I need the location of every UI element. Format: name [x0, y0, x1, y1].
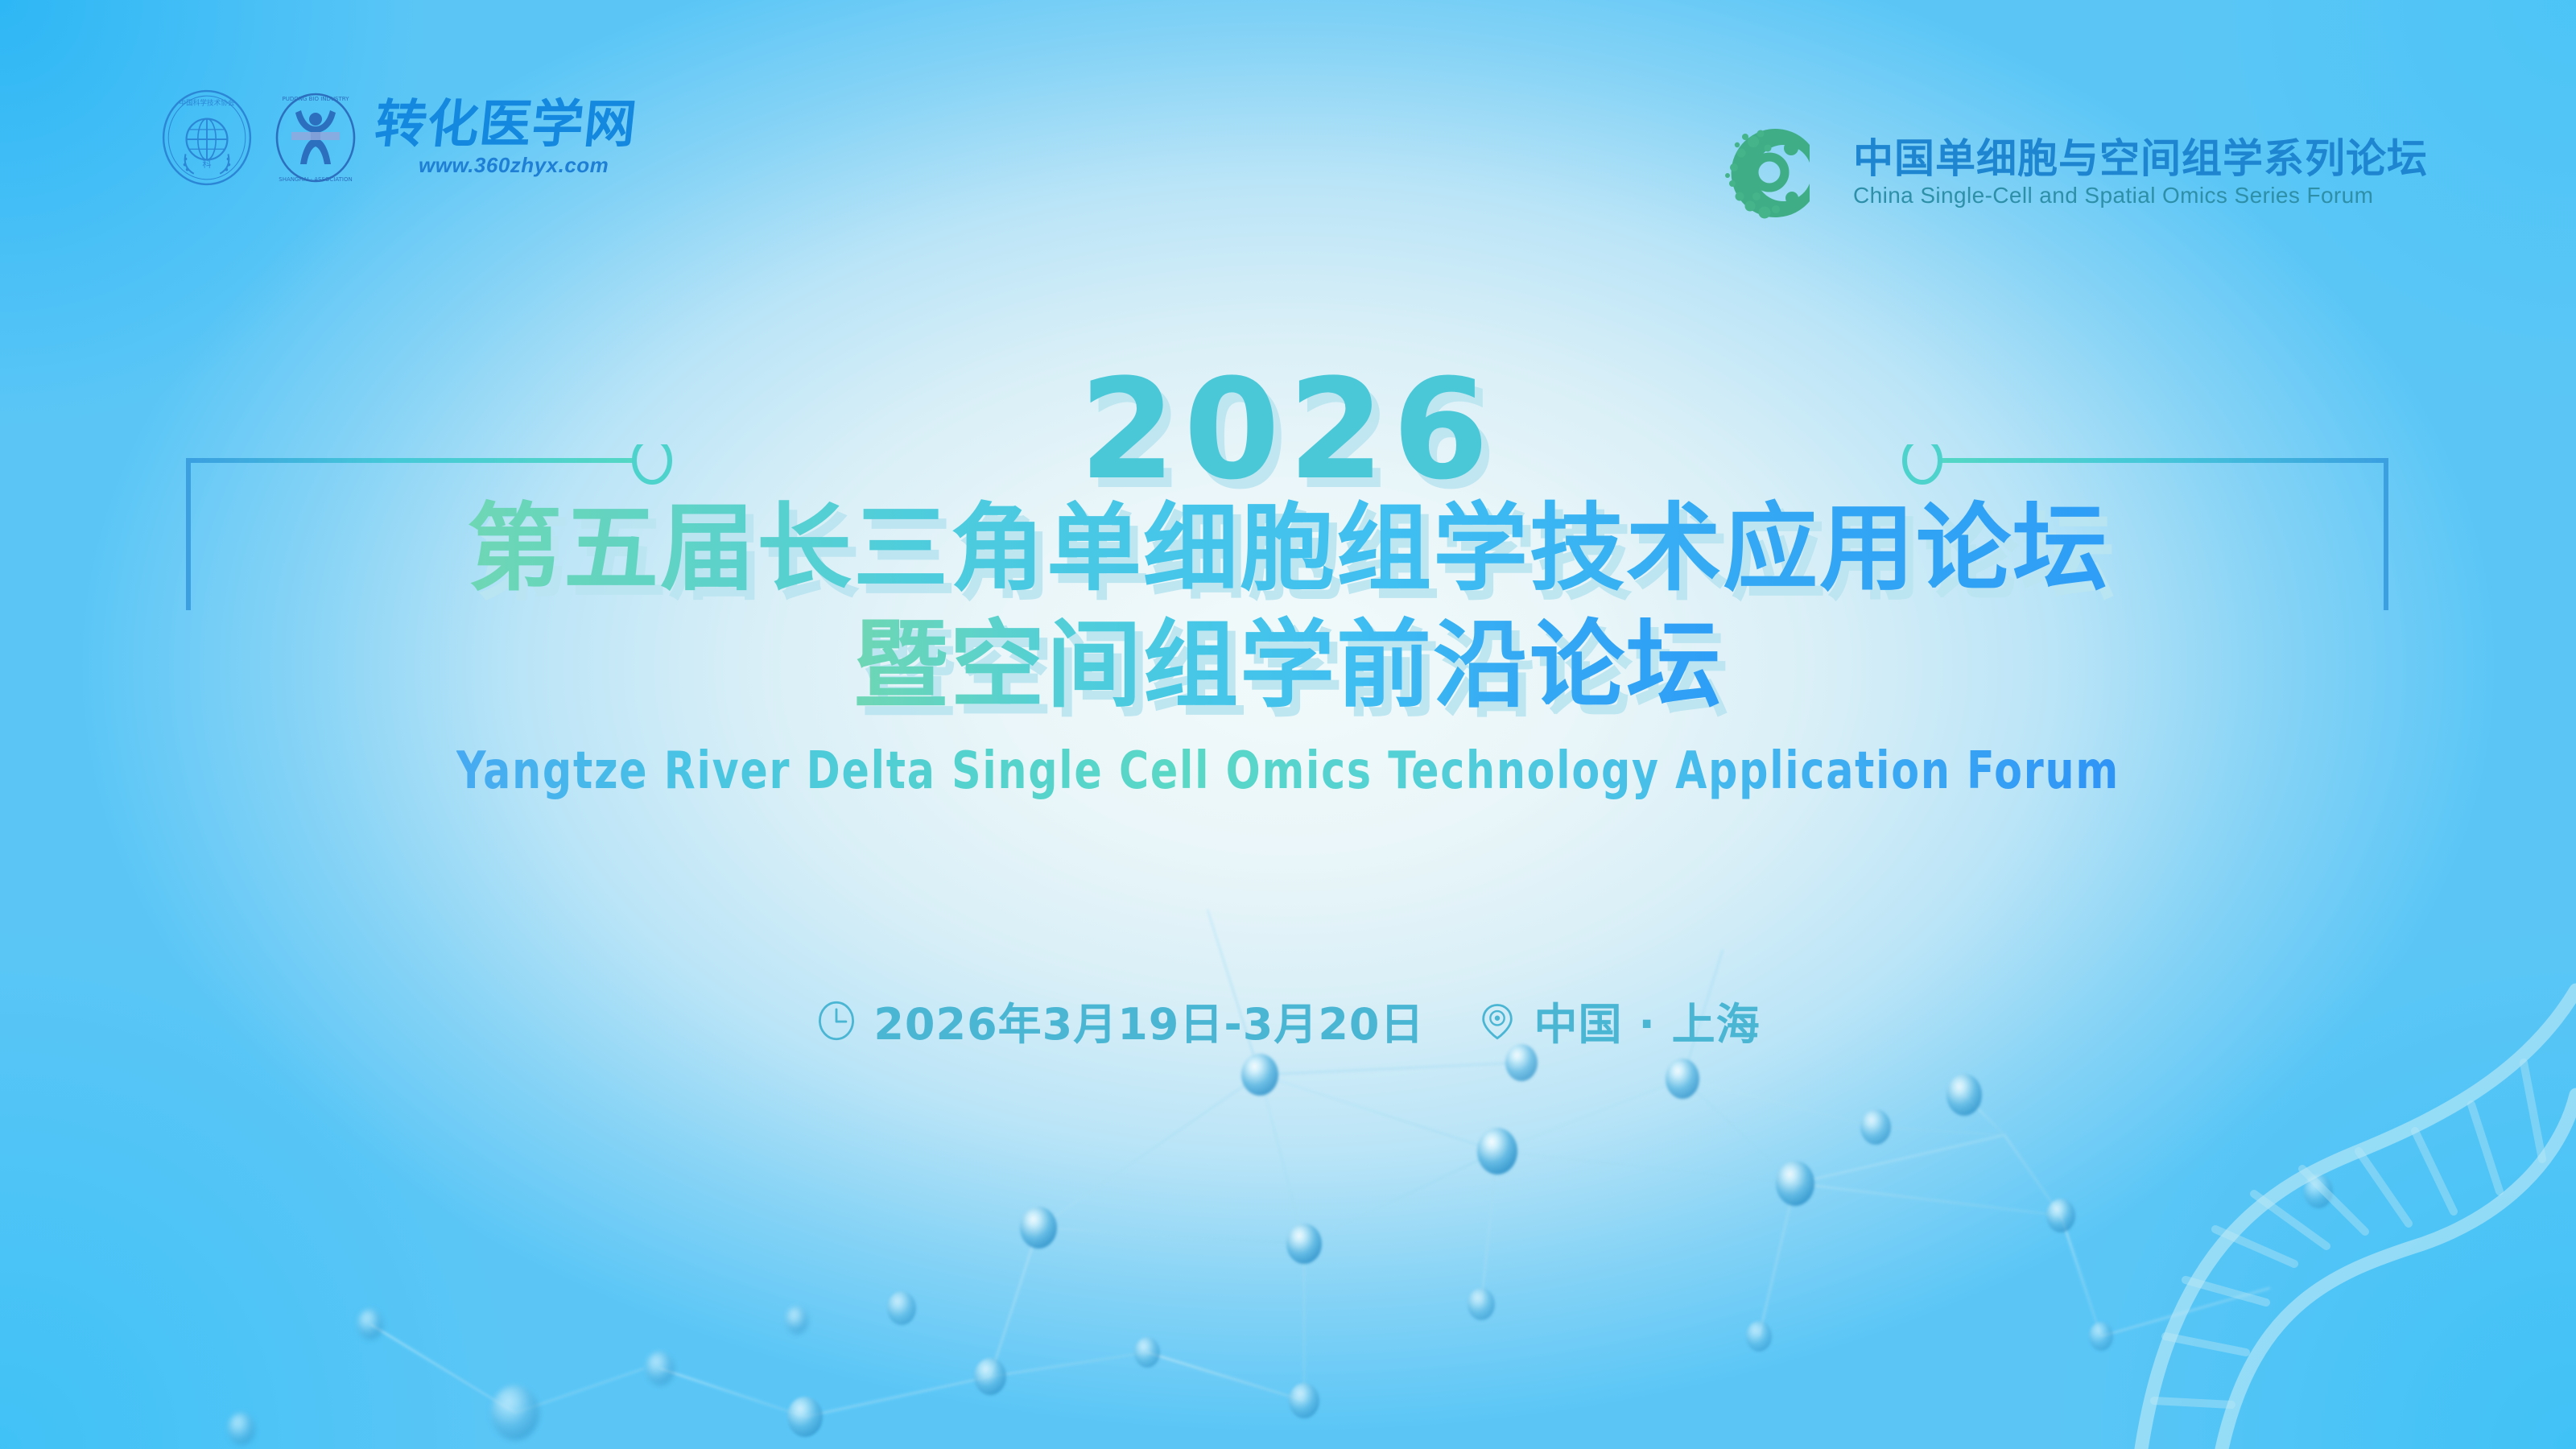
- zhyx-logo-url: www.360zhyx.com: [419, 153, 609, 178]
- title-block: 2026 第五届长三角单细胞组学技术应用论坛 暨空间组学前沿论坛 Yangtze…: [0, 366, 2576, 801]
- forum-series-en-name: China Single-Cell and Spatial Omics Seri…: [1853, 183, 2428, 208]
- event-location-text: 中国 · 上海: [1534, 989, 1761, 1052]
- event-date-item: 2026年3月19日-3月20日: [815, 989, 1424, 1052]
- svg-text:科: 科: [202, 159, 211, 170]
- event-meta-row: 2026年3月19日-3月20日 中国 · 上海: [0, 989, 2576, 1052]
- left-logo-group: 科 中国科学技术协会 PUDONG BIO INDUSTRY SHANGHAI …: [158, 89, 637, 187]
- svg-text:PUDONG BIO INDUSTRY: PUDONG BIO INDUSTRY: [283, 96, 350, 102]
- map-pin-icon: [1476, 1000, 1518, 1042]
- event-location-item: 中国 · 上海: [1476, 989, 1761, 1052]
- clock-icon: [815, 1000, 857, 1042]
- conference-banner: 科 中国科学技术协会 PUDONG BIO INDUSTRY SHANGHAI …: [0, 0, 2576, 1449]
- event-date-text: 2026年3月19日-3月20日: [873, 989, 1424, 1052]
- english-subtitle: Yangtze River Delta Single Cell Omics Te…: [456, 741, 2120, 801]
- forum-series-cn-name: 中国单细胞与空间组学系列论坛: [1853, 138, 2428, 180]
- main-title-line-2: 暨空间组学前沿论坛: [853, 610, 1723, 720]
- zhyx-logo-text: 转化医学网: [373, 98, 640, 150]
- single-cell-omics-mark-icon: [1715, 113, 1835, 233]
- year-heading: 2026: [1080, 366, 1497, 493]
- forum-series-logo: 中国单细胞与空间组学系列论坛 China Single-Cell and Spa…: [1715, 113, 2428, 233]
- svg-text:中国科学技术协会: 中国科学技术协会: [179, 97, 234, 107]
- translational-medicine-network-logo: 转化医学网 www.360zhyx.com: [375, 98, 637, 178]
- spba-seal-icon: PUDONG BIO INDUSTRY SHANGHAI · ASSOCIATI…: [270, 90, 361, 185]
- svg-text:SHANGHAI · ASSOCIATION: SHANGHAI · ASSOCIATION: [279, 176, 352, 183]
- cast-seal-icon: 科 中国科学技术协会: [158, 89, 256, 187]
- main-title-line-1: 第五届长三角单细胞组学技术应用论坛: [467, 493, 2109, 604]
